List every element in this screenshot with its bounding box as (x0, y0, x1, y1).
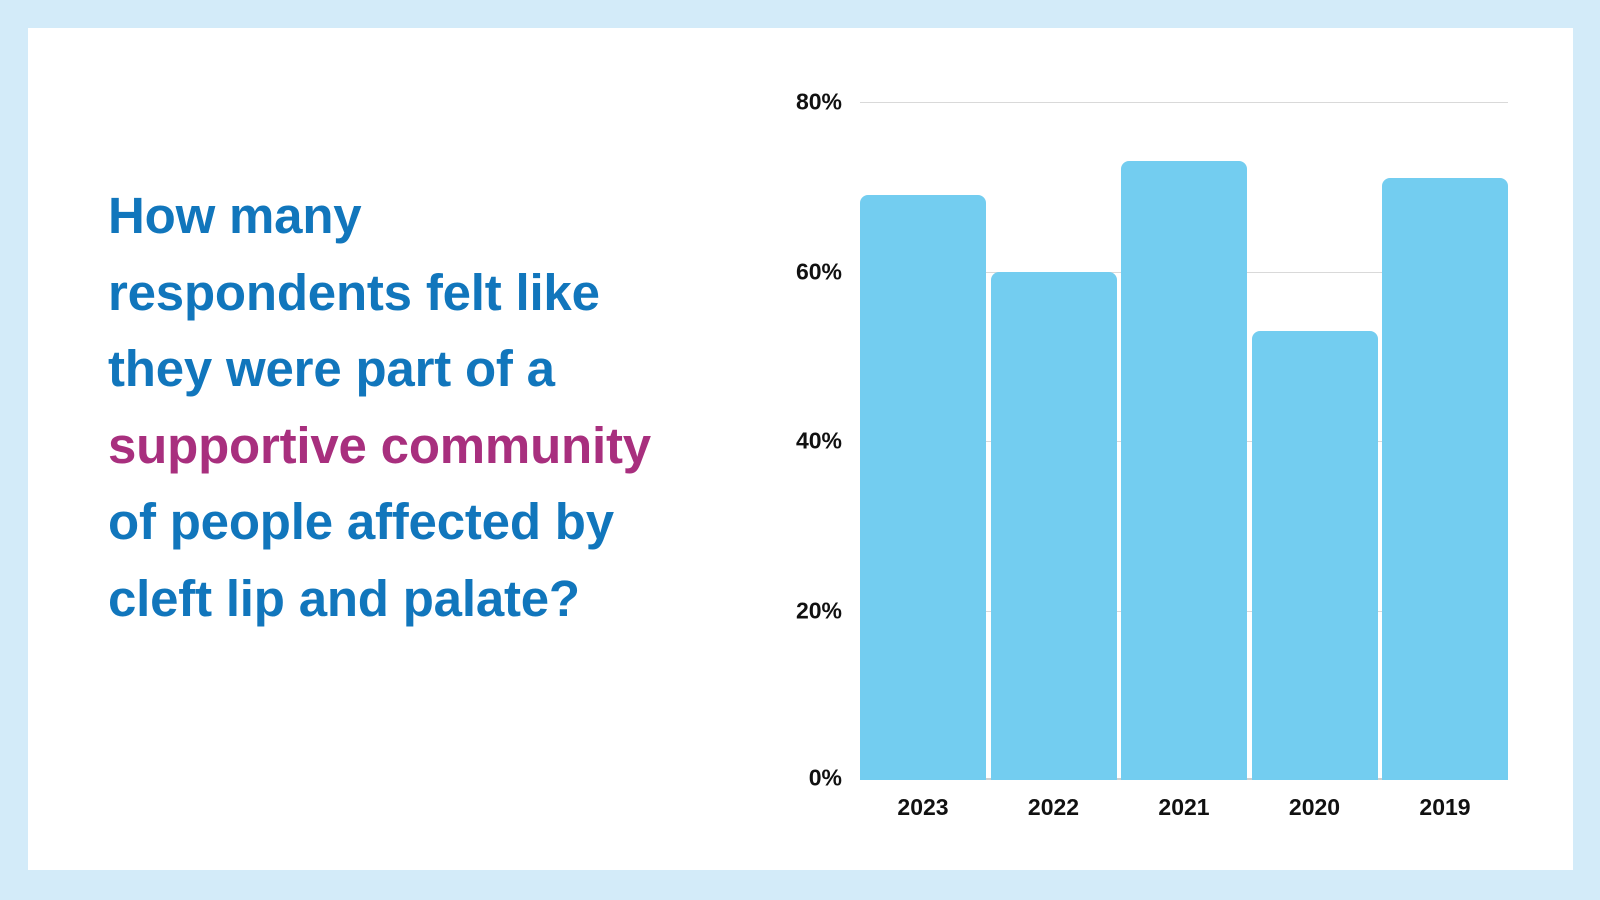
y-axis-label-40: 40% (796, 428, 842, 455)
x-axis-label-2020: 2020 (1252, 794, 1378, 821)
bar-slot-2019: 2019 (1382, 102, 1508, 780)
x-axis-label-2023: 2023 (860, 794, 986, 821)
bar-2023[interactable] (860, 195, 986, 780)
bar-2022[interactable] (991, 272, 1117, 781)
chart-plot-area: 80% 60% 40% 20% 0% 2023 (860, 102, 1508, 780)
bar-series: 2023 2022 2021 2020 (860, 102, 1508, 780)
headline-accent-phrase: supportive community (108, 417, 651, 474)
bar-2021[interactable] (1121, 161, 1247, 780)
y-axis-label-0: 0% (809, 765, 842, 792)
bar-slot-2022: 2022 (991, 102, 1117, 780)
y-axis-label-80: 80% (796, 89, 842, 116)
bar-2019[interactable] (1382, 178, 1508, 780)
y-axis-label-60: 60% (796, 258, 842, 285)
page-title: How many respondents felt like they were… (108, 178, 668, 637)
bar-2020[interactable] (1252, 331, 1378, 780)
x-axis-label-2022: 2022 (991, 794, 1117, 821)
slide-card: How many respondents felt like they were… (28, 28, 1573, 870)
x-axis-label-2021: 2021 (1121, 794, 1247, 821)
bar-slot-2020: 2020 (1252, 102, 1378, 780)
bar-slot-2023: 2023 (860, 102, 986, 780)
x-axis-label-2019: 2019 (1382, 794, 1508, 821)
headline-part-two: of people affected by cleft lip and pala… (108, 493, 614, 627)
headline-part-one: How many respondents felt like they were… (108, 187, 600, 397)
slide-background: How many respondents felt like they were… (0, 0, 1600, 900)
y-axis-label-20: 20% (796, 597, 842, 624)
bar-chart: 80% 60% 40% 20% 0% 2023 (748, 68, 1548, 858)
bar-slot-2021: 2021 (1121, 102, 1247, 780)
